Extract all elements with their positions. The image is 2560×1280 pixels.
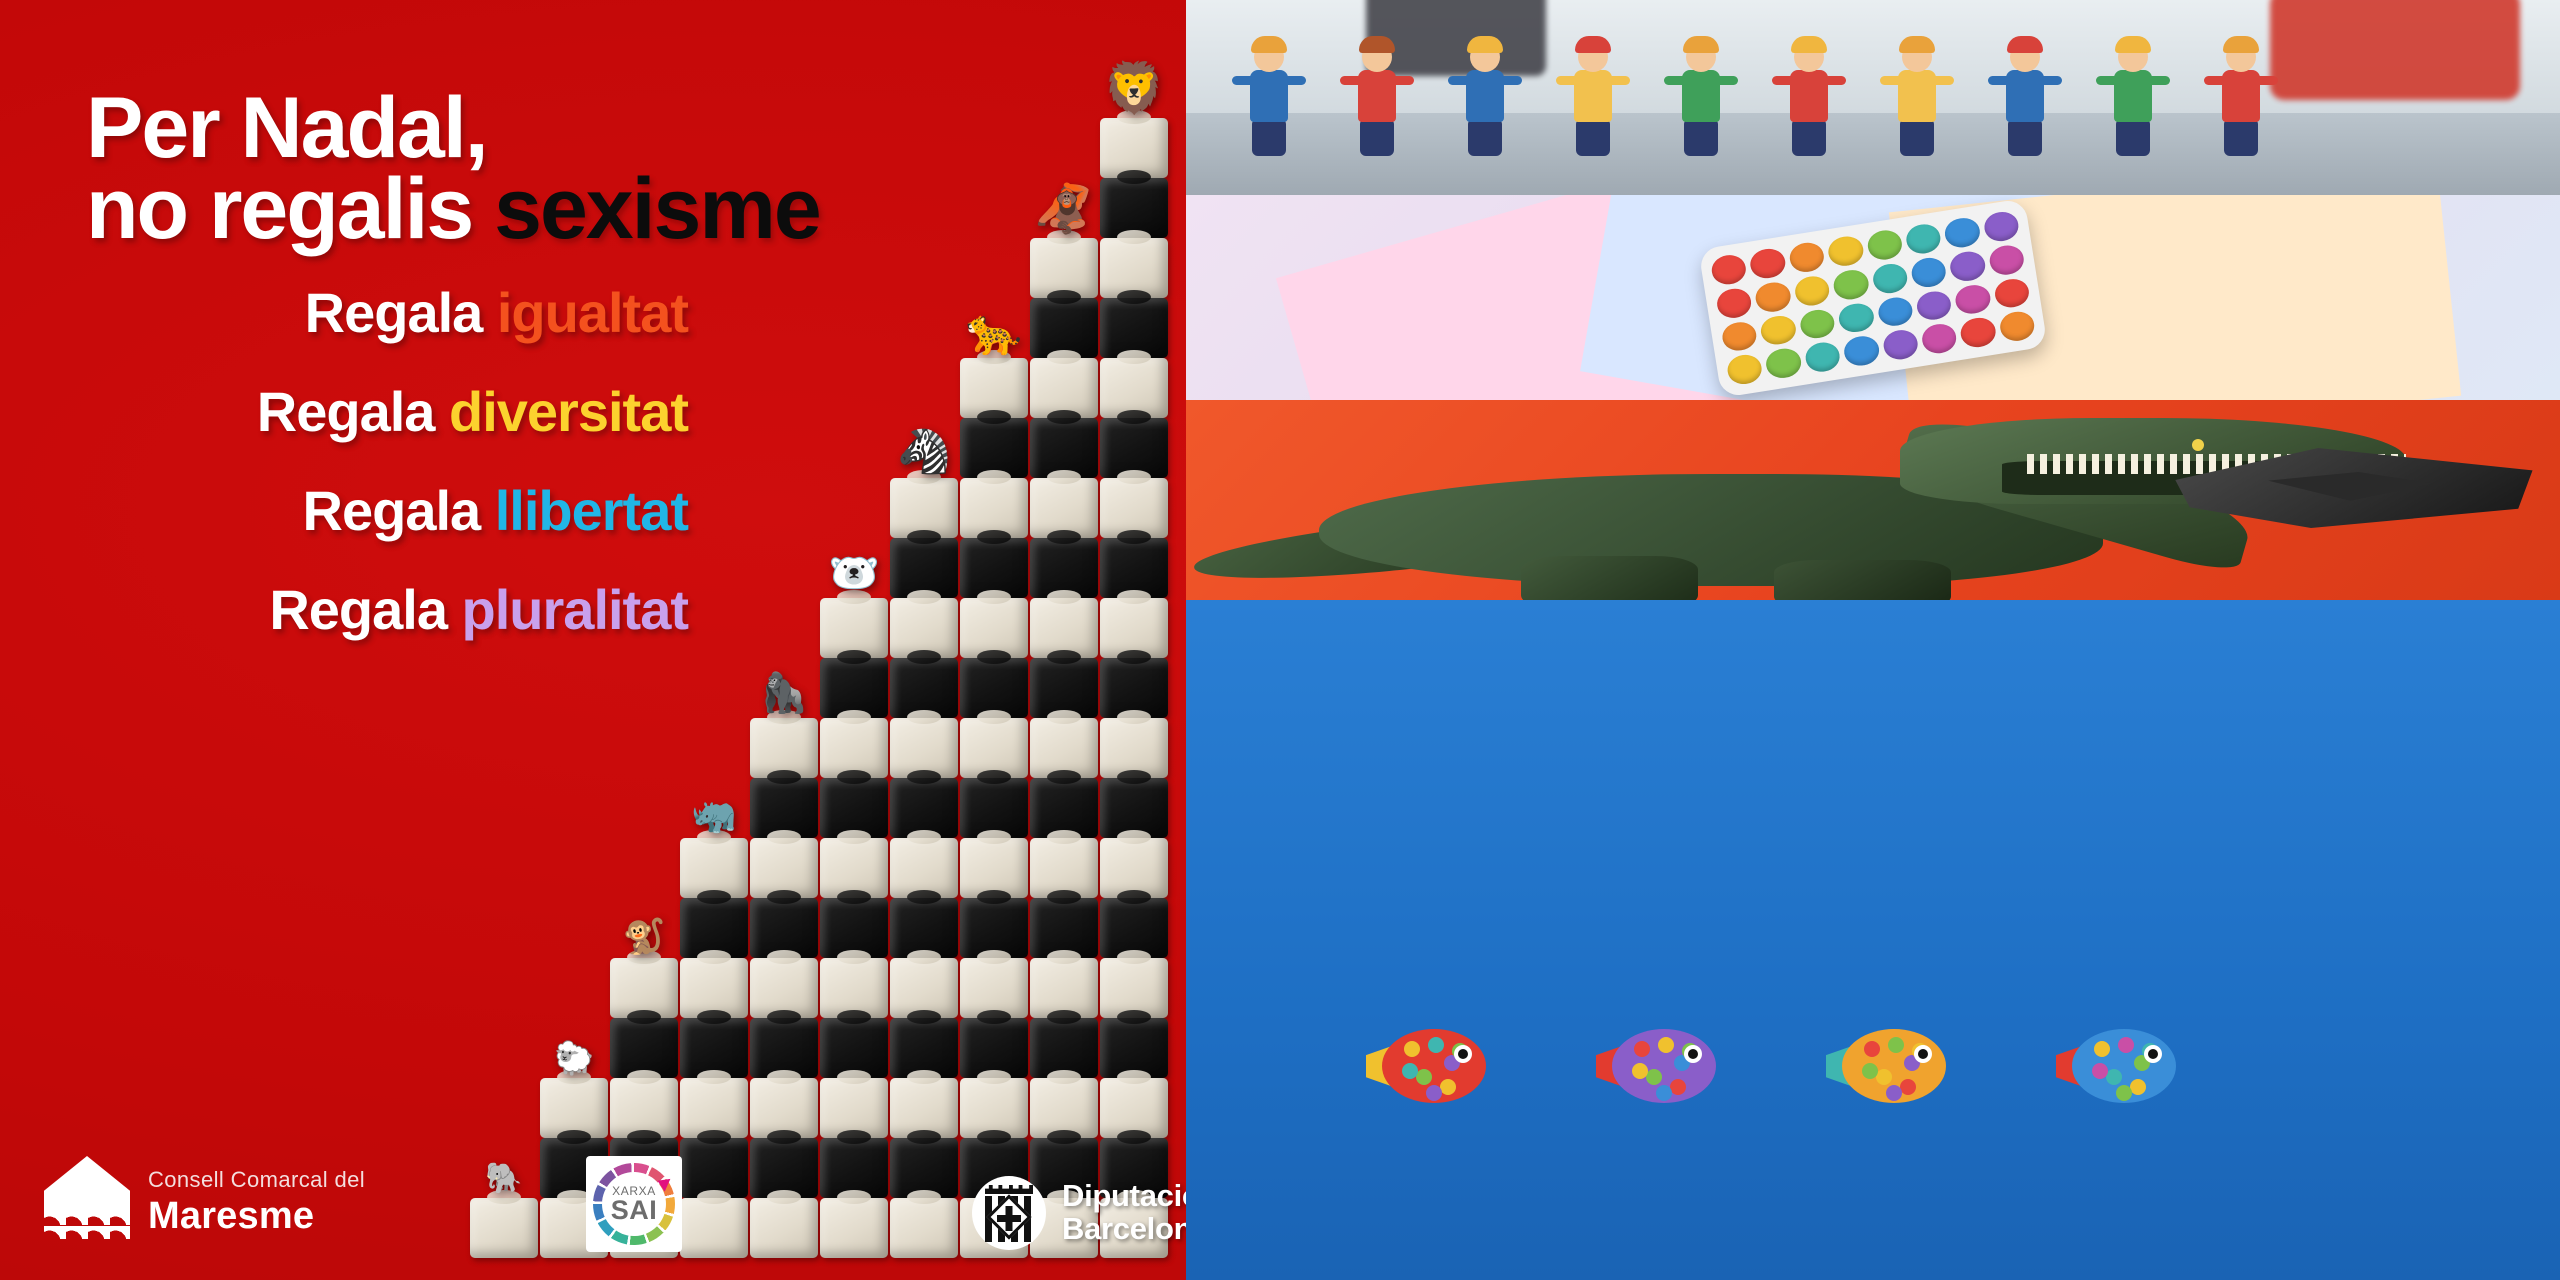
pop-it-bubble — [1726, 352, 1764, 386]
toy-brick — [1100, 1018, 1168, 1078]
toy-brick — [890, 478, 958, 538]
toy-brick — [820, 718, 888, 778]
diputacio-logo-text: Diputació Barcelona — [1062, 1180, 1186, 1246]
pop-it-bubble — [1865, 228, 1903, 262]
toy-brick — [1030, 778, 1098, 838]
pop-it-bubble — [1982, 209, 2020, 243]
pop-it-bubble — [1749, 246, 1787, 280]
pop-it-bubble — [1904, 221, 1942, 255]
toy-brick — [890, 1018, 958, 1078]
toy-brick — [1030, 298, 1098, 358]
toy-brick — [960, 1018, 1028, 1078]
brick-column: 🦁 — [1100, 118, 1168, 1258]
toy-brick — [750, 838, 818, 898]
gorilla-icon: 🦍 — [760, 675, 808, 714]
toy-brick — [960, 838, 1028, 898]
toy-brick — [1100, 118, 1168, 178]
logo-row: Consell Comarcal del Maresme XARXA SAI — [0, 1120, 1186, 1280]
toy-brick — [1030, 238, 1098, 298]
playmobil-figure — [2218, 42, 2264, 160]
toy-brick — [1100, 238, 1168, 298]
playmobil-figure — [2002, 42, 2048, 160]
toy-brick — [1100, 838, 1168, 898]
playmobil-figure — [1462, 42, 1508, 160]
plasticine-fish — [1596, 1029, 1716, 1103]
toy-brick — [1030, 898, 1098, 958]
sai-rainbow-ring-icon: XARXA SAI — [593, 1163, 675, 1245]
pop-it-bubble — [1920, 321, 1958, 355]
toy-brick — [960, 598, 1028, 658]
toy-brick — [1100, 478, 1168, 538]
pop-it-bubble — [1993, 276, 2031, 310]
poster-canvas: Per Nadal, no regalis sexisme Regala igu… — [0, 0, 2560, 1280]
pop-it-bubble — [1759, 313, 1797, 347]
pop-it-bubble — [1798, 307, 1836, 341]
lion-icon: 🦁 — [1103, 64, 1165, 114]
toy-brick — [750, 718, 818, 778]
toy-brick — [960, 718, 1028, 778]
toy-brick — [1030, 538, 1098, 598]
toy-brick — [960, 658, 1028, 718]
maresme-line-2: Maresme — [148, 1195, 365, 1238]
toy-brick — [890, 658, 958, 718]
toy-brick — [1030, 718, 1098, 778]
toy-brick — [820, 958, 888, 1018]
pop-it-bubble — [1837, 300, 1875, 334]
toy-brick — [1100, 358, 1168, 418]
playmobil-figure — [1678, 42, 1724, 160]
playmobil-figure — [1354, 42, 1400, 160]
toy-brick — [750, 958, 818, 1018]
photo-pop-it-fidget-toy — [1186, 195, 2560, 400]
toy-brick — [750, 898, 818, 958]
toy-brick — [820, 658, 888, 718]
playmobil-figure — [1570, 42, 1616, 160]
logo-xarxa-sai: XARXA SAI — [586, 1156, 682, 1252]
toy-brick — [680, 838, 748, 898]
toy-brick — [820, 778, 888, 838]
pop-it-bubble — [1871, 261, 1909, 295]
toy-brick — [610, 1018, 678, 1078]
toy-brick — [960, 358, 1028, 418]
photo-plasticine-fish — [1186, 600, 2560, 1280]
toy-brick — [680, 898, 748, 958]
toy-brick — [1100, 598, 1168, 658]
toy-brick — [960, 778, 1028, 838]
toy-brick — [820, 1018, 888, 1078]
plasticine-fish — [1366, 1029, 1486, 1103]
polar-bear-icon: 🐻‍❄️ — [828, 553, 879, 594]
toy-brick — [1100, 298, 1168, 358]
toy-brick — [750, 778, 818, 838]
pop-it-bubble — [1832, 267, 1870, 301]
toy-brick — [1030, 358, 1098, 418]
playmobil-figure — [1246, 42, 1292, 160]
pop-it-bubble — [1987, 242, 2025, 276]
toy-brick — [1030, 958, 1098, 1018]
maresme-line-1: Consell Comarcal del — [148, 1167, 365, 1193]
sai-logo-text: XARXA SAI — [611, 1185, 658, 1224]
maresme-logo-text: Consell Comarcal del Maresme — [148, 1167, 365, 1238]
toy-brick — [890, 598, 958, 658]
toy-brick — [1030, 1018, 1098, 1078]
rhino-icon: 🦏 — [691, 797, 737, 834]
zebra-icon: 🦓 — [897, 431, 951, 474]
toy-brick — [820, 898, 888, 958]
toy-brick — [890, 838, 958, 898]
toy-brick — [820, 838, 888, 898]
toy-brick — [1100, 658, 1168, 718]
toy-brick — [960, 418, 1028, 478]
diputacio-line-1: Diputació — [1062, 1180, 1186, 1213]
pop-it-bubble — [1998, 309, 2036, 343]
toy-brick — [1030, 658, 1098, 718]
toy-brick — [890, 538, 958, 598]
playmobil-figure — [2110, 42, 2156, 160]
toy-brick — [960, 898, 1028, 958]
toy-brick — [1100, 178, 1168, 238]
orangutan-icon: 🦧 — [1034, 186, 1093, 234]
toy-brick — [890, 958, 958, 1018]
toy-brick — [1100, 718, 1168, 778]
diputacio-line-2: Barcelona — [1062, 1213, 1186, 1246]
monkey-icon: 🐒 — [623, 920, 666, 954]
toy-brick — [1030, 418, 1098, 478]
logo-diputacio-barcelona: Diputació Barcelona — [972, 1176, 1186, 1250]
photo-dinosaur-toy — [1186, 400, 2560, 600]
toy-brick — [820, 598, 888, 658]
toy-brick — [890, 718, 958, 778]
logo-consell-comarcal-maresme: Consell Comarcal del Maresme — [44, 1156, 365, 1248]
brick-column: 🦧 — [1030, 238, 1098, 1258]
pop-it-bubble — [1788, 240, 1826, 274]
slogan-prefix: Regala — [303, 479, 495, 542]
toy-brick — [1100, 538, 1168, 598]
pop-it-bubble — [1754, 279, 1792, 313]
toy-brick — [1030, 478, 1098, 538]
photo-playmobil-figures-holding-hands — [1186, 0, 2560, 195]
maresme-mountain-wave-icon — [44, 1156, 130, 1248]
left-red-panel: Per Nadal, no regalis sexisme Regala igu… — [0, 0, 1186, 1280]
pop-it-bubble — [1842, 334, 1880, 368]
photo-strip — [1186, 0, 2560, 1280]
toy-brick — [960, 478, 1028, 538]
toy-brick — [1030, 838, 1098, 898]
toy-brick — [680, 1018, 748, 1078]
playmobil-figure — [1894, 42, 1940, 160]
pop-it-bubble — [1720, 319, 1758, 353]
toy-brick — [1100, 898, 1168, 958]
toy-brick — [1100, 418, 1168, 478]
pop-it-bubble — [1876, 294, 1914, 328]
pop-it-bubble — [1948, 249, 1986, 283]
toy-brick — [750, 1018, 818, 1078]
headline-line-2-white: no regalis — [86, 161, 494, 257]
pop-it-bubble — [1959, 315, 1997, 349]
sheep-icon: 🐑 — [554, 1042, 594, 1074]
slogan-prefix: Regala — [269, 578, 461, 641]
pop-it-bubble — [1803, 340, 1841, 374]
pop-it-bubble — [1715, 286, 1753, 320]
plasticine-fish — [1826, 1029, 1946, 1103]
toy-brick — [960, 958, 1028, 1018]
slogan-prefix: Regala — [257, 380, 449, 443]
pop-it-bubble — [1943, 215, 1981, 249]
toy-brick — [680, 958, 748, 1018]
toy-brick — [610, 958, 678, 1018]
playmobil-figure — [1786, 42, 1832, 160]
pop-it-bubble — [1881, 328, 1919, 362]
toy-brick — [1100, 778, 1168, 838]
pop-it-bubble — [1826, 234, 1864, 268]
toy-brick — [1030, 598, 1098, 658]
plasticine-fish — [2056, 1029, 2176, 1103]
pop-it-bubble — [1915, 288, 1953, 322]
slogan-prefix: Regala — [305, 281, 497, 344]
pop-it-bubble — [1764, 346, 1802, 380]
toy-brick — [890, 778, 958, 838]
toy-brick — [890, 898, 958, 958]
pop-it-bubble — [1793, 273, 1831, 307]
toy-brick-staircase: 🐘🐑🐒🦏🦍🐻‍❄️🦓🐆🦧🦁 — [470, 0, 1186, 1280]
toy-brick — [1100, 958, 1168, 1018]
toy-brick — [960, 538, 1028, 598]
pop-it-bubble — [1909, 255, 1947, 289]
pop-it-bubble — [1710, 252, 1748, 286]
sai-bottom-text: SAI — [611, 1197, 658, 1224]
leopard-icon: 🐆 — [966, 309, 1023, 354]
pop-it-bubble — [1954, 282, 1992, 316]
barcelona-coat-of-arms-icon — [972, 1176, 1046, 1250]
